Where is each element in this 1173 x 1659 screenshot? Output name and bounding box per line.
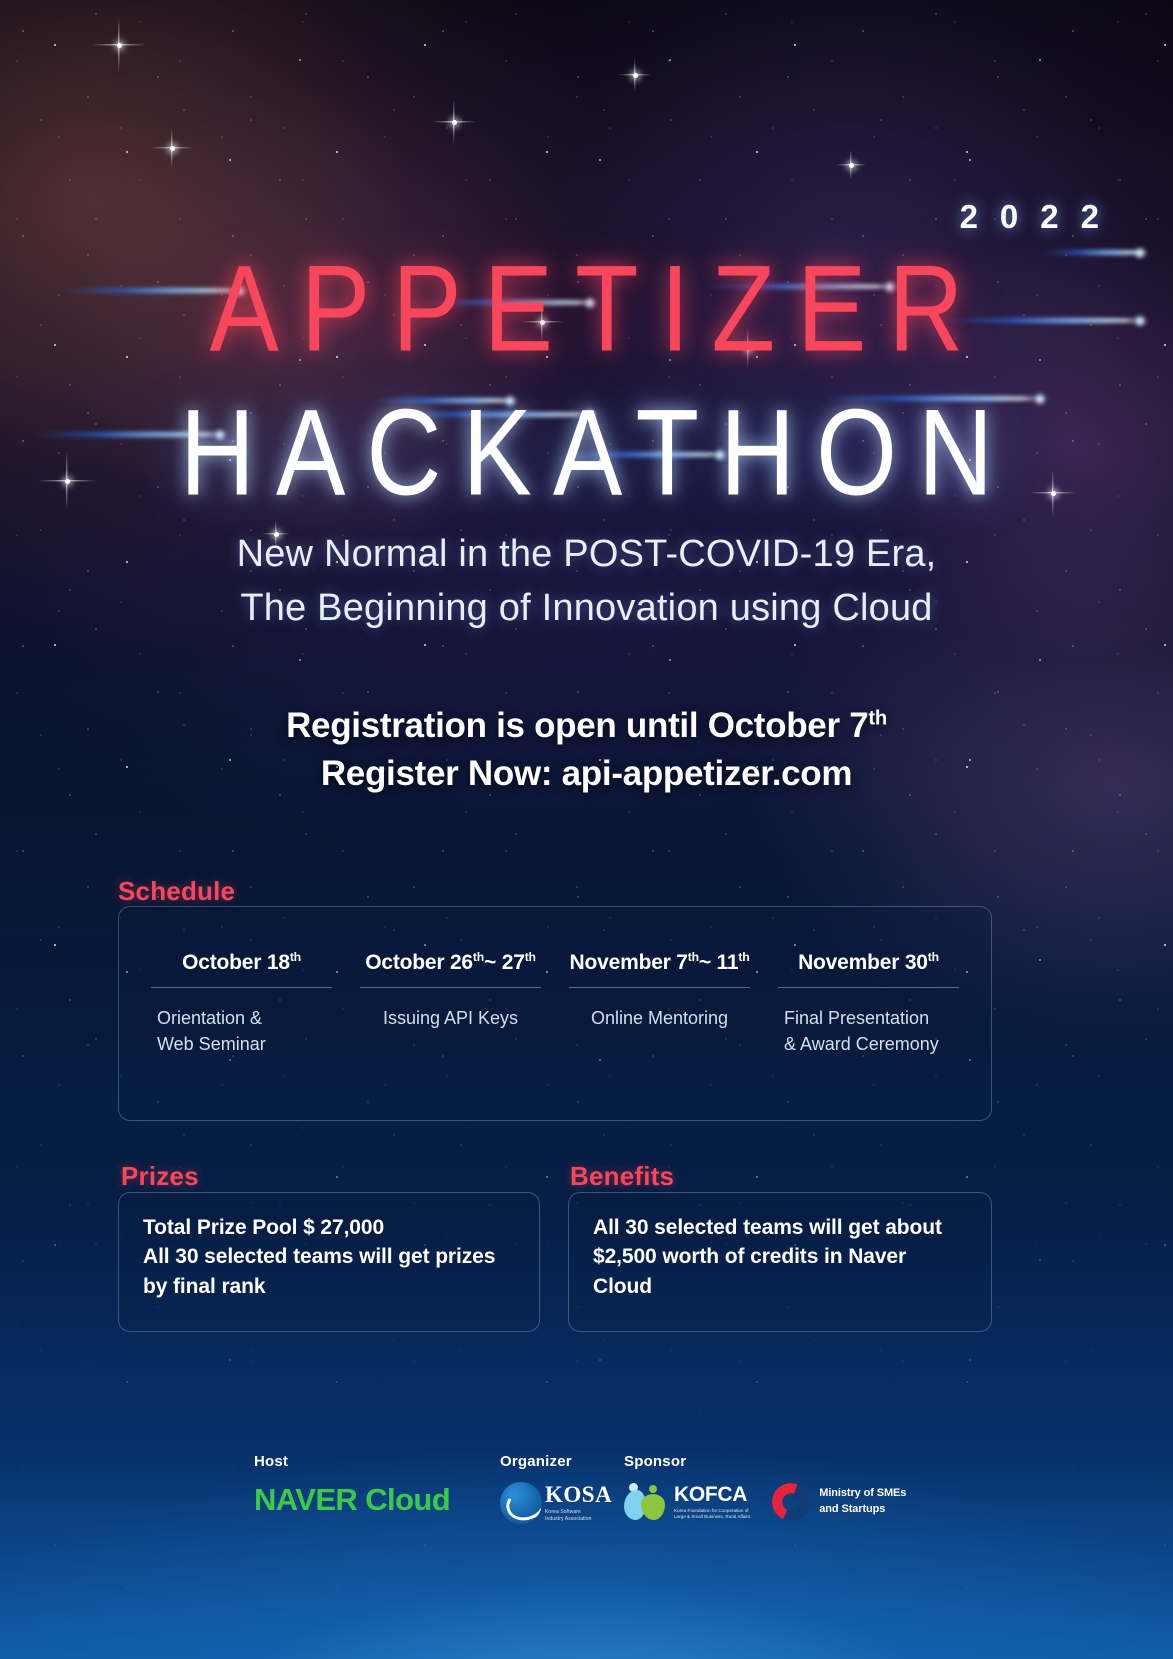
schedule-date-ordinal-2: th <box>525 950 536 964</box>
ministry-logo-text: Ministry of SMEs and Startups <box>819 1486 906 1518</box>
schedule-description: Final Presentation & Award Ceremony <box>778 1006 959 1057</box>
schedule-description: Issuing API Keys <box>360 1006 541 1032</box>
benefits-body: All 30 selected teams will get about $2,… <box>569 1193 991 1321</box>
event-wordmark: APPETIZER HACKATHON <box>0 248 1173 496</box>
schedule-divider <box>360 987 541 988</box>
ministry-line-2: and Startups <box>819 1502 906 1518</box>
registration-ordinal-suffix: th <box>868 707 887 729</box>
kosa-logo-text: KOSA Korea Software Industry Association <box>545 1483 612 1523</box>
schedule-date-ordinal: th <box>290 950 301 964</box>
year-label: 2022 <box>960 198 1121 236</box>
wordmark-hackathon: HACKATHON <box>0 392 1173 515</box>
footer-group-host: Host NAVER Cloud <box>254 1453 450 1518</box>
schedule-date-main: November 7 <box>570 951 688 974</box>
schedule-date-ordinal: th <box>928 950 939 964</box>
subtitle-line-2: The Beginning of Innovation using Cloud <box>0 582 1173 636</box>
schedule-date: November 30th <box>778 951 959 975</box>
footer-caption-sponsor: Sponsor <box>624 1453 906 1470</box>
schedule-date-main: November 30 <box>798 951 928 974</box>
schedule-date-tail: ~ 11 <box>699 951 739 974</box>
schedule-description: Orientation & Web Seminar <box>151 1006 332 1057</box>
section-label-schedule: Schedule <box>118 876 235 907</box>
benefits-panel: All 30 selected teams will get about $2,… <box>568 1192 992 1332</box>
schedule-desc-line-1: Issuing API Keys <box>360 1006 541 1032</box>
prizes-line-3: by final rank <box>143 1272 515 1301</box>
benefits-line-1: All 30 selected teams will get about <box>593 1213 967 1242</box>
kosa-name: KOSA <box>545 1483 612 1506</box>
benefits-line-2: $2,500 worth of credits in Naver Cloud <box>593 1242 967 1301</box>
schedule-date-main: October 18 <box>182 951 290 974</box>
schedule-divider <box>569 987 750 988</box>
schedule-description: Online Mentoring <box>569 1006 750 1032</box>
schedule-date-ordinal-2: th <box>738 950 749 964</box>
ministry-line-1: Ministry of SMEs <box>819 1486 906 1502</box>
schedule-date: October 26th~ 27th <box>360 951 541 975</box>
schedule-desc-line-1: Orientation & <box>157 1006 332 1032</box>
kofca-name: KOFCA <box>674 1484 750 1505</box>
wordmark-appetizer: APPETIZER <box>0 248 1173 371</box>
section-label-benefits: Benefits <box>570 1161 674 1192</box>
kofca-logo: KOFCA Korea Foundation for Cooperation o… <box>624 1482 750 1522</box>
schedule-divider <box>151 987 332 988</box>
schedule-divider <box>778 987 959 988</box>
schedule-column: October 26th~ 27th Issuing API Keys <box>346 951 555 1120</box>
schedule-desc-line-1: Final Presentation <box>784 1006 959 1032</box>
naver-cloud-logo: NAVER Cloud <box>254 1482 450 1518</box>
prizes-panel: Total Prize Pool $ 27,000 All 30 selecte… <box>118 1192 540 1332</box>
schedule-date-tail: ~ 27 <box>484 951 525 974</box>
kosa-subtitle-line-1: Korea Software <box>545 1509 612 1516</box>
prizes-line-2: All 30 selected teams will get prizes <box>143 1242 515 1271</box>
schedule-desc-line-2: & Award Ceremony <box>784 1032 959 1058</box>
schedule-date: October 18th <box>151 951 332 975</box>
schedule-column: October 18th Orientation & Web Seminar <box>137 951 346 1120</box>
kofca-subtitle-line-2: Large & Small Business, Rural Affairs <box>674 1514 750 1520</box>
schedule-desc-line-2: Web Seminar <box>157 1032 332 1058</box>
schedule-column: November 7th~ 11th Online Mentoring <box>555 951 764 1120</box>
ministry-of-smes-logo: Ministry of SMEs and Startups <box>772 1483 906 1521</box>
schedule-grid: October 18th Orientation & Web Seminar O… <box>119 907 991 1120</box>
section-label-prizes: Prizes <box>121 1161 199 1192</box>
footer: Host NAVER Cloud Organizer KOSA Korea So… <box>0 1453 1173 1563</box>
kofca-logo-text: KOFCA Korea Foundation for Cooperation o… <box>674 1484 750 1521</box>
kofca-subtitle: Korea Foundation for Cooperation of Larg… <box>674 1508 750 1521</box>
registration-url-line[interactable]: Register Now: api-appetizer.com <box>0 750 1173 798</box>
kosa-mark-icon <box>500 1482 542 1524</box>
poster-root: 2022 APPETIZER HACKATHON New Normal in t… <box>0 0 1173 1659</box>
prizes-body: Total Prize Pool $ 27,000 All 30 selecte… <box>119 1193 539 1321</box>
kofca-mark-icon <box>624 1482 668 1522</box>
schedule-panel: October 18th Orientation & Web Seminar O… <box>118 906 992 1121</box>
footer-caption-organizer: Organizer <box>500 1453 612 1470</box>
prizes-line-1: Total Prize Pool $ 27,000 <box>143 1213 515 1242</box>
schedule-date-ordinal: th <box>688 950 699 964</box>
sponsor-logo-row: KOFCA Korea Foundation for Cooperation o… <box>624 1482 906 1522</box>
event-subtitle: New Normal in the POST-COVID-19 Era, The… <box>0 528 1173 636</box>
schedule-date-ordinal: th <box>473 950 484 964</box>
organizer-logo-row: KOSA Korea Software Industry Association <box>500 1482 612 1524</box>
footer-caption-host: Host <box>254 1453 450 1470</box>
registration-callout: Registration is open until October 7th R… <box>0 702 1173 799</box>
registration-deadline-text: Registration is open until October 7 <box>286 706 868 745</box>
kosa-subtitle: Korea Software Industry Association <box>545 1509 612 1523</box>
schedule-date-main: October 26 <box>365 951 473 974</box>
schedule-date: November 7th~ 11th <box>569 951 750 975</box>
registration-deadline-line: Registration is open until October 7th <box>0 702 1173 750</box>
kosa-subtitle-line-2: Industry Association <box>545 1516 612 1523</box>
schedule-column: November 30th Final Presentation & Award… <box>764 951 973 1120</box>
footer-group-sponsor: Sponsor KOFCA Korea Foundation for Coope… <box>624 1453 906 1522</box>
schedule-desc-line-1: Online Mentoring <box>569 1006 750 1032</box>
taegeuk-icon <box>772 1483 810 1521</box>
subtitle-line-1: New Normal in the POST-COVID-19 Era, <box>0 528 1173 582</box>
footer-group-organizer: Organizer KOSA Korea Software Industry A… <box>500 1453 612 1524</box>
kosa-logo: KOSA Korea Software Industry Association <box>500 1482 612 1524</box>
